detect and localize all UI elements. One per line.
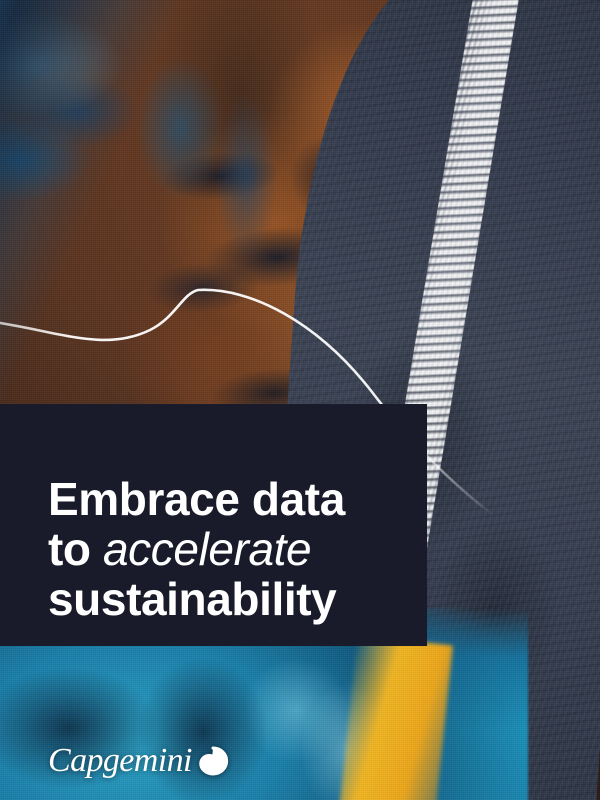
capgemini-logo: Capgemini [48, 744, 230, 778]
headline-line-2: to accelerate [48, 524, 428, 574]
report-cover: Embrace data to accelerate sustainabilit… [0, 0, 600, 800]
headline-line-1: Embrace data [48, 474, 428, 524]
headline-line-3: sustainability [48, 574, 428, 624]
background-photo [0, 0, 600, 800]
bottom-yellow-band [339, 635, 453, 800]
page-title: Embrace data to accelerate sustainabilit… [48, 474, 428, 624]
headline-line-2-bold: to [48, 523, 103, 575]
capgemini-spiral-mark [196, 744, 230, 778]
capgemini-wordmark: Capgemini [48, 744, 192, 778]
headline-line-2-italic: accelerate [103, 523, 311, 575]
